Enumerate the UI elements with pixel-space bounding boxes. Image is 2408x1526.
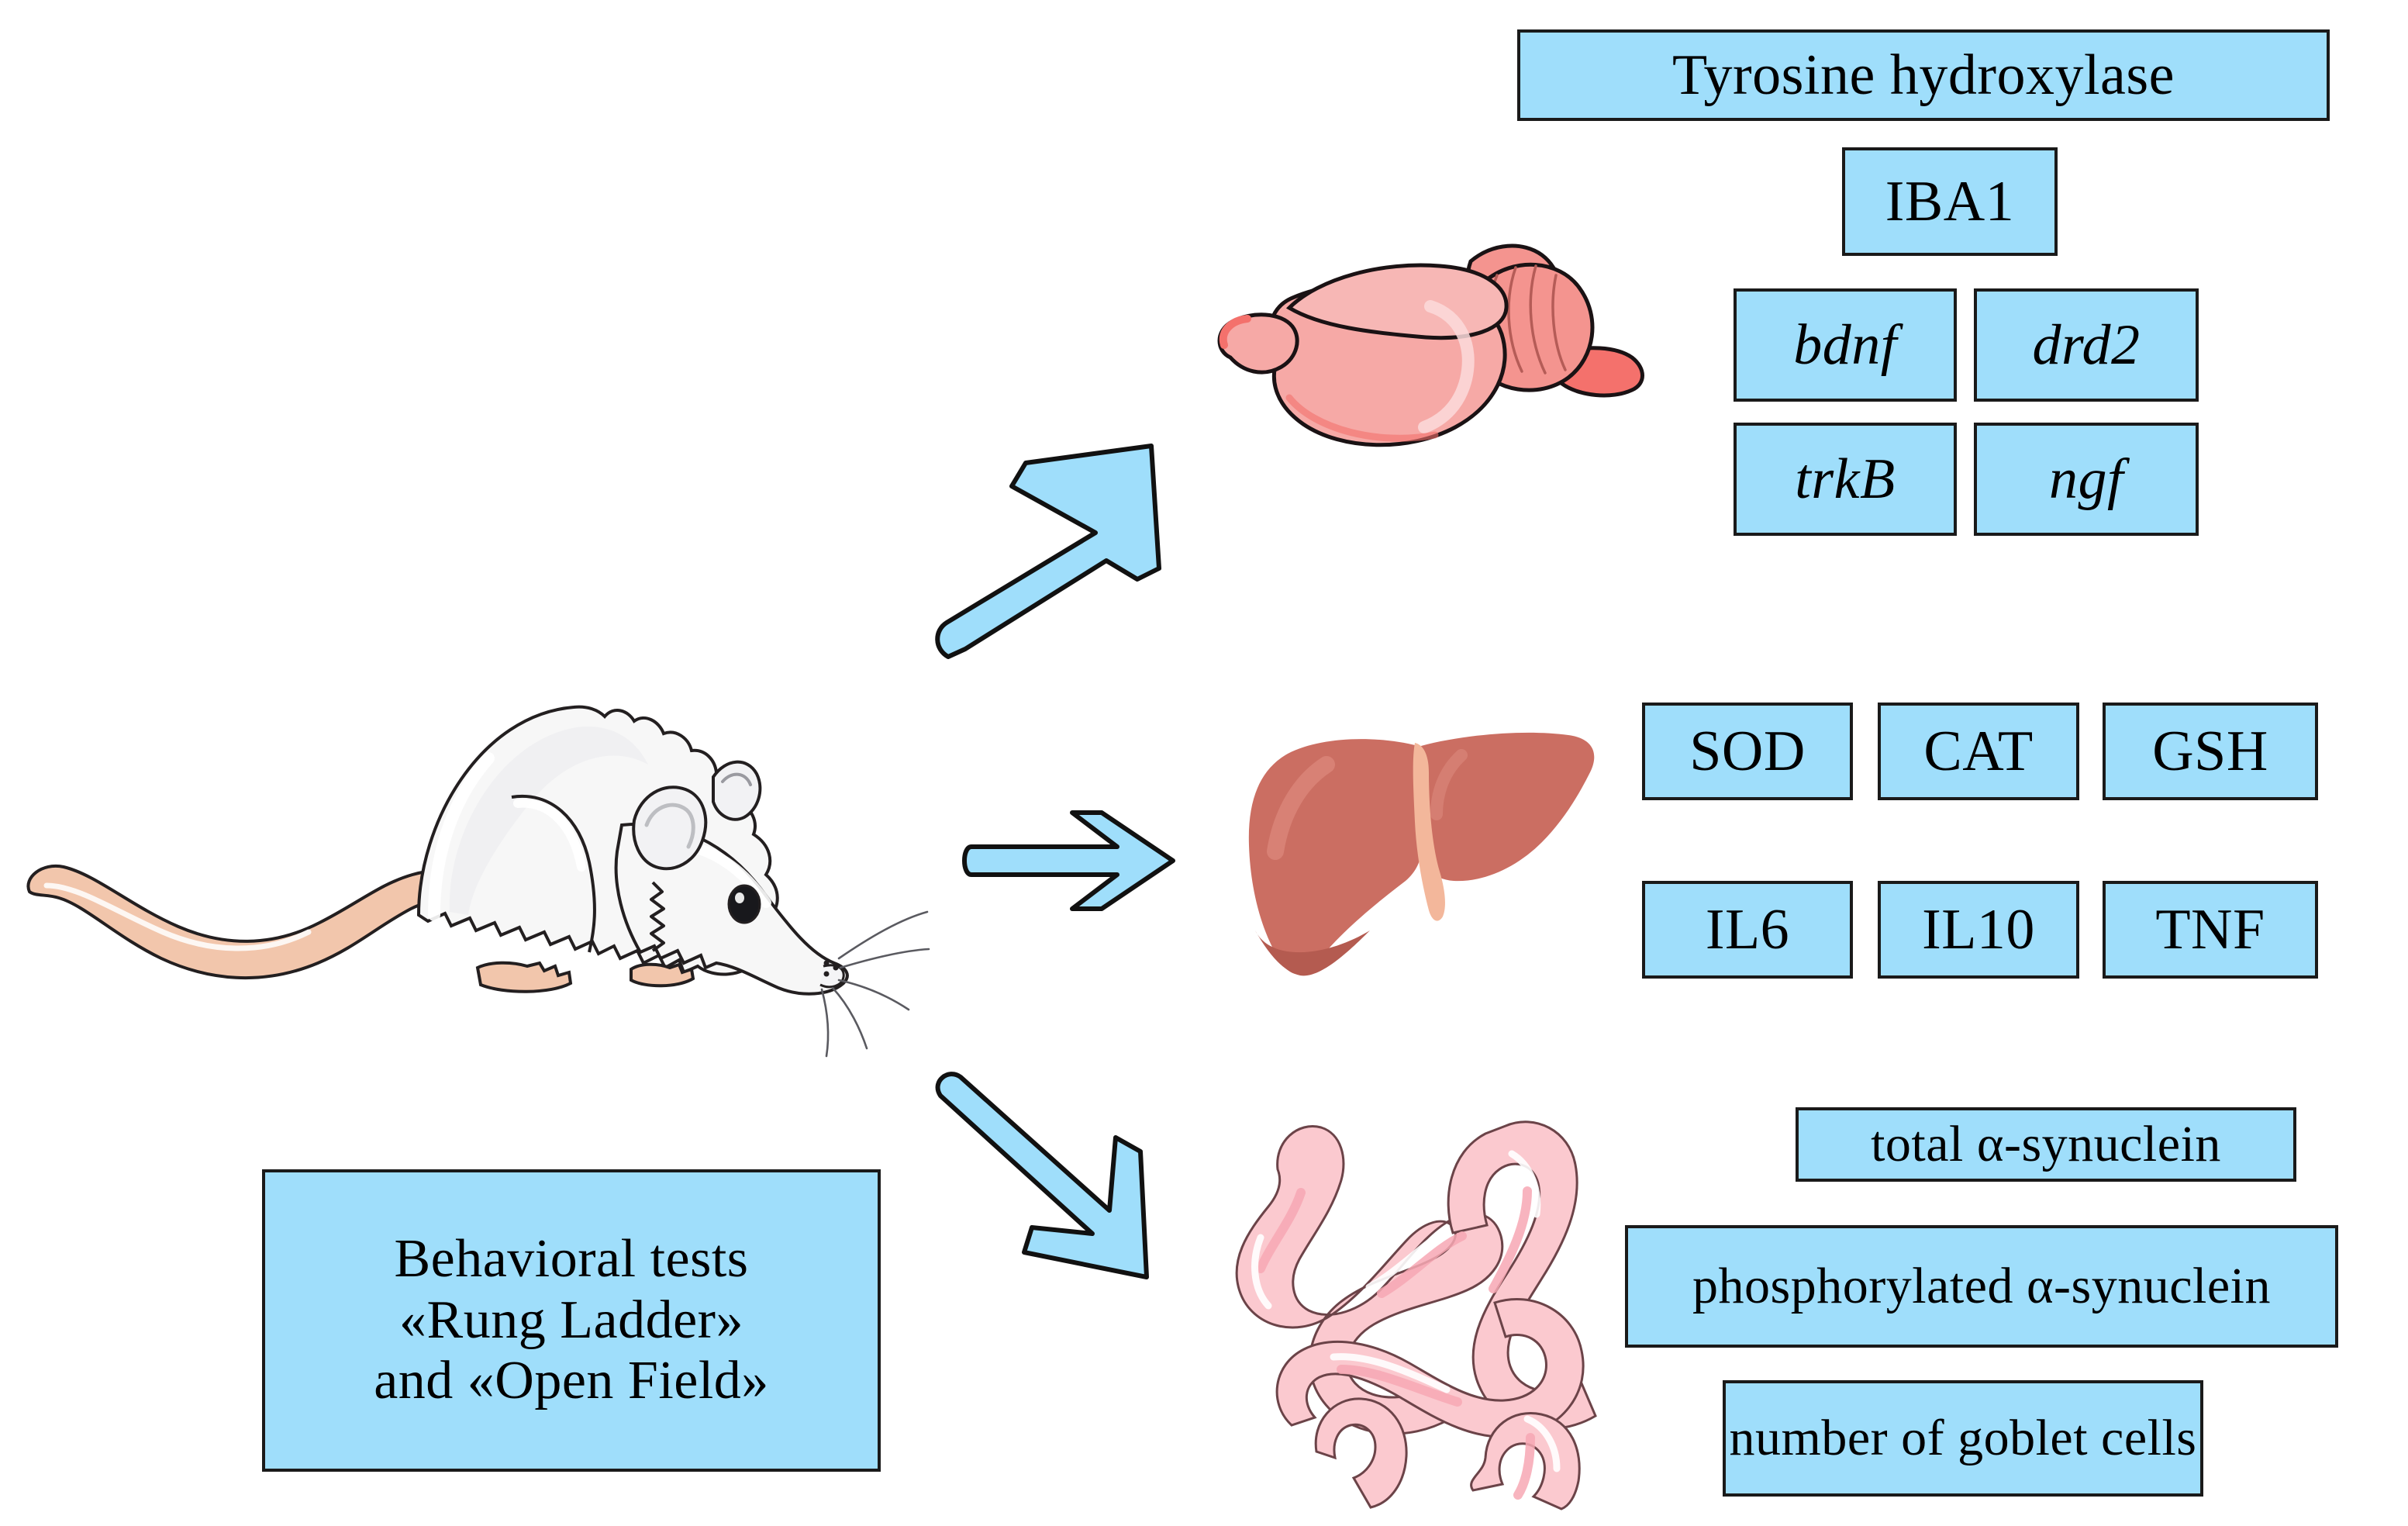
marker-box-bdnf[interactable]: bdnf [1734, 288, 1957, 402]
marker-box-sod[interactable]: SOD [1642, 703, 1853, 800]
arrow-to-intestine [926, 1066, 1175, 1307]
marker-box-iba1[interactable]: IBA1 [1842, 147, 2058, 256]
behavioral-line-3: and «Open Field» [374, 1351, 769, 1411]
marker-box-gsh[interactable]: GSH [2103, 703, 2318, 800]
brain-illustration [1198, 221, 1678, 477]
marker-box-total-alpha-synuclein[interactable]: total α-synuclein [1796, 1107, 2296, 1182]
behavioral-line-2: «Rung Ladder» [399, 1290, 743, 1351]
rat-eye [729, 886, 760, 923]
marker-box-tnf[interactable]: TNF [2103, 881, 2318, 979]
marker-box-number-of-goblet-cells[interactable]: number of goblet cells [1723, 1380, 2203, 1497]
marker-box-cat[interactable]: CAT [1878, 703, 2079, 800]
arrow-to-liver [957, 806, 1182, 915]
marker-box-il10[interactable]: IL10 [1878, 881, 2079, 979]
marker-box-ngf[interactable]: ngf [1974, 423, 2199, 536]
marker-box-drd2[interactable]: drd2 [1974, 288, 2199, 402]
liver-right-lobe [1420, 733, 1594, 881]
behavioral-tests-box[interactable]: Behavioral tests «Rung Ladder» and «Open… [262, 1169, 881, 1472]
marker-box-tyrosine-hydroxylase[interactable]: Tyrosine hydroxylase [1517, 29, 2330, 121]
rat-hind-foot [478, 963, 571, 992]
rat-tail [28, 866, 468, 978]
marker-box-il6[interactable]: IL6 [1642, 881, 1853, 979]
rat-far-ear [713, 762, 760, 820]
rat-illustration [16, 659, 930, 1031]
marker-box-phosphorylated-alpha-synuclein[interactable]: phosphorylated α-synuclein [1625, 1225, 2338, 1348]
intestine-illustration [1217, 1093, 1620, 1512]
behavioral-line-1: Behavioral tests [394, 1229, 748, 1290]
liver-illustration [1229, 698, 1624, 989]
marker-box-trkb[interactable]: trkB [1734, 423, 1957, 536]
arrow-to-brain [926, 430, 1206, 663]
diagram-canvas: Tyrosine hydroxylase IBA1 bdnf drd2 trkB… [0, 0, 2408, 1526]
